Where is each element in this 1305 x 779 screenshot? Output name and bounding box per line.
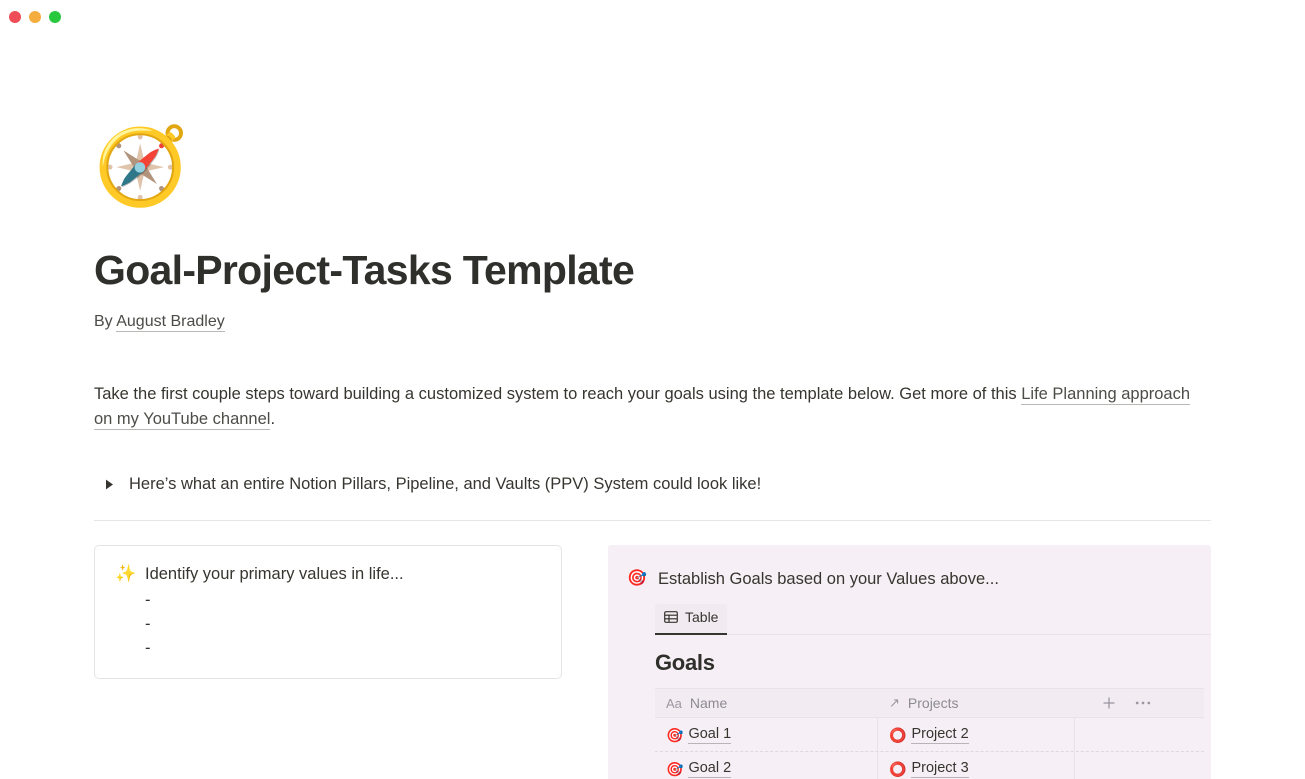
intro-text-before: Take the first couple steps toward build… [94, 385, 1021, 403]
red-circle-emoji: ⭕ [889, 728, 906, 742]
goals-callout-text[interactable]: Establish Goals based on your Values abo… [658, 567, 999, 591]
cell-name[interactable]: 🎯 Goal 1 [655, 718, 878, 751]
table-row[interactable]: 🎯 Goal 2 ⭕ Project 3 [655, 752, 1204, 779]
maximize-window-button[interactable] [49, 11, 61, 23]
byline-prefix: By [94, 313, 116, 330]
toggle-block[interactable]: Here’s what an entire Notion Pillars, Pi… [94, 472, 1211, 496]
goals-callout-row: 🎯 Establish Goals based on your Values a… [608, 567, 1211, 591]
intro-text-after: . [270, 410, 275, 428]
database-title[interactable]: Goals [655, 649, 1211, 677]
page-body: 🧭 Goal-Project-Tasks Template By August … [0, 126, 1305, 779]
list-item[interactable]: - [145, 612, 543, 636]
project-link[interactable]: Project 3 [911, 760, 968, 778]
window-titlebar [0, 0, 1305, 34]
cell-projects[interactable]: ⭕ Project 2 [878, 718, 1075, 751]
column-header-name[interactable]: Aa Name [655, 689, 878, 717]
two-column-layout: ✨ Identify your primary values in life..… [94, 545, 1211, 779]
page-title: Goal-Project-Tasks Template [94, 246, 1211, 294]
values-callout-heading[interactable]: Identify your primary values in life... [145, 562, 404, 586]
more-options-button[interactable] [1135, 695, 1151, 711]
byline: By August Bradley [94, 311, 1211, 333]
cell-empty[interactable] [1075, 718, 1204, 751]
cell-projects[interactable]: ⭕ Project 3 [878, 752, 1075, 779]
compass-emoji[interactable]: 🧭 [94, 126, 176, 208]
text-type-icon: Aa [666, 696, 682, 711]
list-item[interactable]: - [145, 588, 543, 612]
values-callout-heading-row: ✨ Identify your primary values in life..… [115, 562, 543, 586]
goals-database-panel: 🎯 Establish Goals based on your Values a… [608, 545, 1211, 779]
page-content: 🧭 Goal-Project-Tasks Template By August … [94, 126, 1211, 779]
close-window-button[interactable] [9, 11, 21, 23]
goal-link[interactable]: Goal 1 [688, 726, 731, 744]
goals-table: Aa Name ↗ Projects [655, 688, 1204, 779]
column-header-projects[interactable]: ↗ Projects [878, 689, 1075, 717]
section-divider [94, 520, 1211, 521]
database-tab-strip: Table [655, 603, 1211, 635]
column-header-name-label: Name [690, 695, 727, 711]
cell-name[interactable]: 🎯 Goal 2 [655, 752, 878, 779]
goal-link[interactable]: Goal 2 [688, 760, 731, 778]
project-link[interactable]: Project 2 [911, 726, 968, 744]
target-emoji: 🎯 [666, 728, 683, 742]
values-callout-card: ✨ Identify your primary values in life..… [94, 545, 562, 679]
tab-table-label: Table [685, 608, 718, 626]
table-header-actions [1086, 695, 1151, 711]
sparkles-emoji: ✨ [115, 562, 133, 586]
add-column-button[interactable] [1101, 695, 1117, 711]
intro-paragraph: Take the first couple steps toward build… [94, 382, 1211, 431]
target-emoji: 🎯 [666, 762, 683, 776]
column-header-projects-label: Projects [908, 695, 959, 711]
toggle-label: Here’s what an entire Notion Pillars, Pi… [129, 472, 761, 496]
target-emoji: 🎯 [627, 567, 645, 591]
column-header-actions [1075, 689, 1204, 717]
chevron-right-icon[interactable] [102, 472, 116, 496]
table-row[interactable]: 🎯 Goal 1 ⭕ Project 2 [655, 718, 1204, 752]
values-list: - - - [145, 588, 543, 660]
table-header-row: Aa Name ↗ Projects [655, 689, 1204, 718]
relation-icon: ↗ [889, 695, 900, 711]
list-item[interactable]: - [145, 636, 543, 660]
table-icon [664, 610, 678, 624]
minimize-window-button[interactable] [29, 11, 41, 23]
tab-table[interactable]: Table [655, 604, 727, 634]
cell-empty[interactable] [1075, 752, 1204, 779]
author-link[interactable]: August Bradley [116, 313, 225, 332]
red-circle-emoji: ⭕ [889, 762, 906, 776]
